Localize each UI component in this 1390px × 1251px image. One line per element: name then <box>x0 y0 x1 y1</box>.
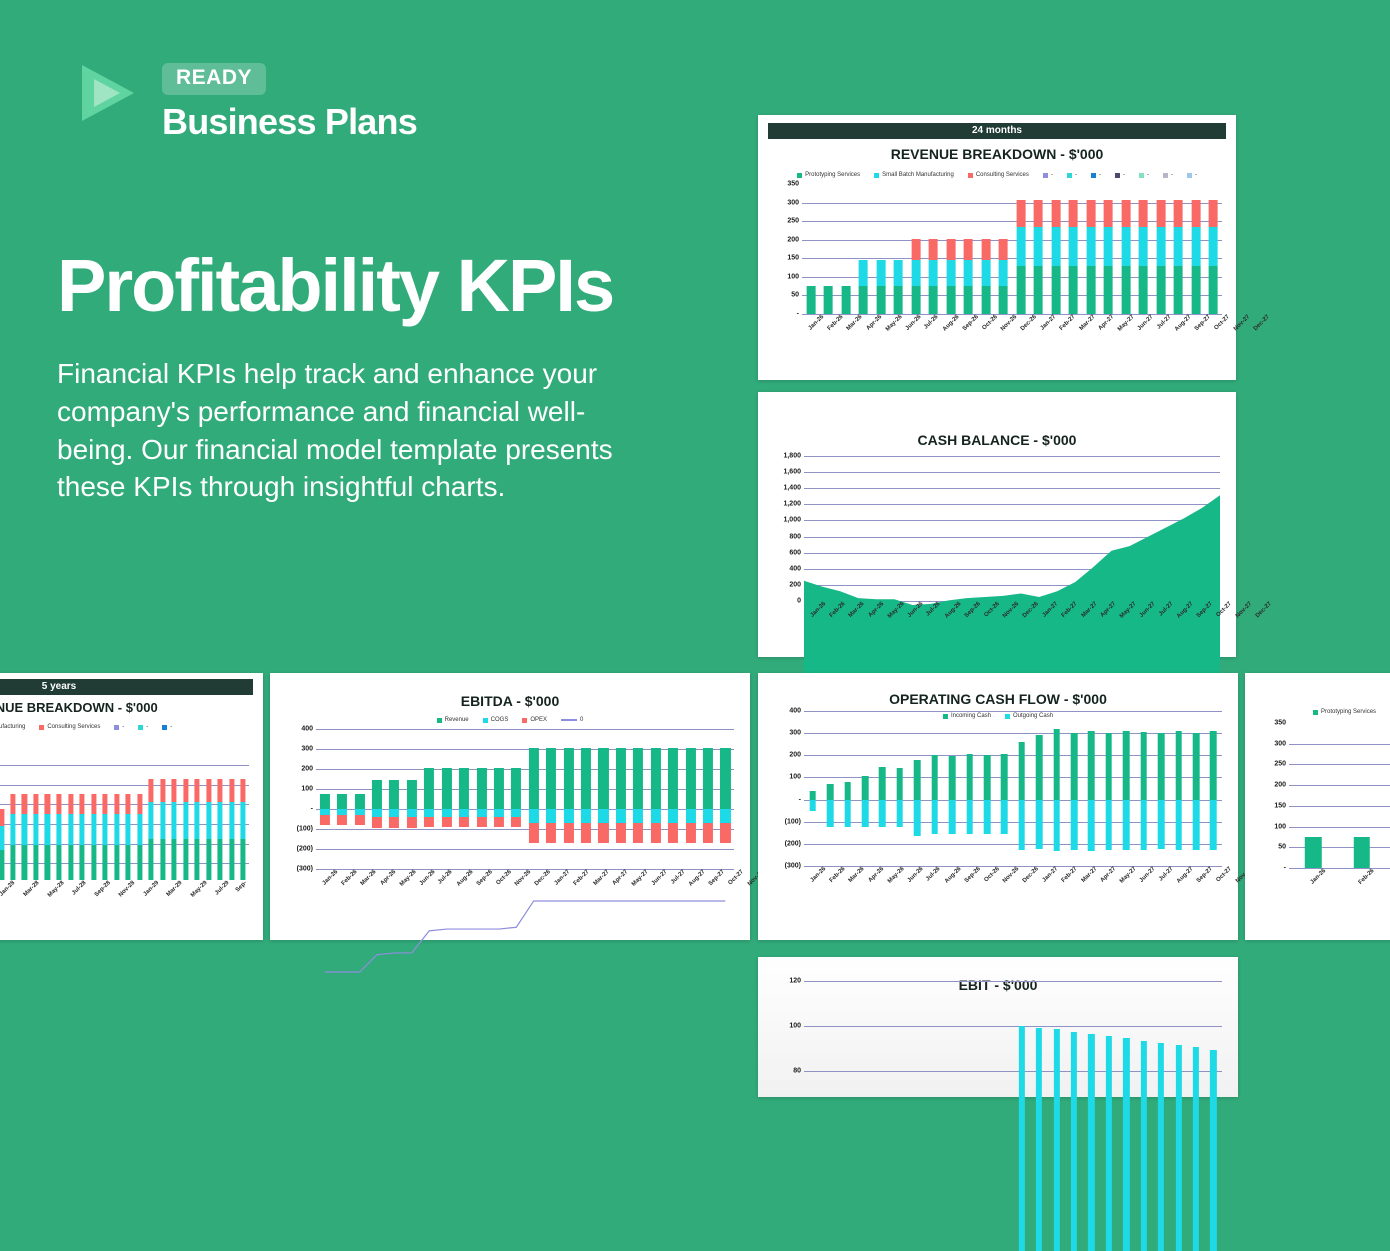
bar-column[interactable] <box>907 184 925 314</box>
x-axis-label: Jul-26 <box>923 314 940 331</box>
bar-column[interactable] <box>1100 981 1117 1071</box>
bar-column[interactable] <box>1030 981 1047 1071</box>
chart-card-cash-balance[interactable]: CASH BALANCE - $'000 1,8001,6001,4001,20… <box>758 392 1236 657</box>
x-axis-label: Dec-26 <box>1020 314 1038 332</box>
bar-segment <box>1193 800 1200 850</box>
bar-series <box>0 740 249 880</box>
chart-card-revenue-breakdown-24m[interactable]: 24 months REVENUE BREAKDOWN - $'000 Prot… <box>758 115 1236 380</box>
x-axis-tick: Jan-26 <box>804 866 823 872</box>
x-axis-label: Jan-27 <box>1040 314 1058 332</box>
x-axis-tick: Jan-29 <box>137 880 156 886</box>
y-axis-tick: 300 <box>789 730 801 737</box>
legend-item[interactable]: - <box>1187 172 1197 178</box>
x-axis-label: Jan-28 <box>0 880 17 898</box>
x-axis-label: May-26 <box>885 314 904 333</box>
x-axis-label: Jul-29 <box>214 880 231 897</box>
bar-segment <box>45 814 50 846</box>
bar-column[interactable] <box>1083 981 1100 1071</box>
bar-column[interactable] <box>88 740 100 880</box>
x-axis-label: Apr-27 <box>611 869 629 887</box>
bar-column[interactable] <box>30 740 42 880</box>
legend-label: COGS <box>491 717 509 723</box>
bar-column[interactable] <box>1170 981 1187 1071</box>
bar-segment <box>894 260 903 286</box>
chart-card-revenue-breakdown-partial[interactable]: Prototyping Services 3503002502001501005… <box>1245 673 1390 940</box>
x-axis-label: May-28 <box>47 880 66 899</box>
legend-item[interactable]: Consulting Services <box>968 172 1029 178</box>
bar-column[interactable] <box>1152 981 1169 1071</box>
legend-label: - <box>1075 172 1077 178</box>
x-axis: Jan-26Feb-26Mar-26Apr-26May-26Jun-26Jul-… <box>768 314 1226 352</box>
bar-segment <box>1086 200 1095 227</box>
bar-column[interactable] <box>157 740 169 880</box>
chart-plot-area: 35030025020015010050- <box>1255 723 1390 868</box>
bar-column[interactable] <box>802 184 820 314</box>
bar-column[interactable] <box>804 981 821 1071</box>
bar-column[interactable] <box>19 740 31 880</box>
bar-segment <box>999 286 1008 314</box>
bar-segment <box>195 839 200 880</box>
bar-segment <box>22 794 27 814</box>
bar-segment <box>91 794 96 814</box>
bar-column[interactable] <box>1118 981 1135 1071</box>
bar-column[interactable] <box>226 740 238 880</box>
legend-item[interactable]: 0 <box>561 717 583 723</box>
bar-segment <box>1175 731 1182 800</box>
x-axis-label: Nov-26 <box>1000 314 1018 332</box>
chart-plot-area <box>0 740 253 880</box>
legend-label: Revenue <box>445 717 469 723</box>
bar-segment <box>1069 266 1078 314</box>
legend-label: - <box>1171 172 1173 178</box>
x-axis-tick: Mar-28 <box>17 880 36 886</box>
bar-column[interactable] <box>134 740 146 880</box>
legend-item[interactable]: Prototyping Services <box>797 172 860 178</box>
bar-segment <box>1071 1032 1077 1251</box>
bar-segment <box>1053 800 1060 852</box>
bar-column[interactable] <box>99 740 111 880</box>
bar-segment <box>1210 731 1217 800</box>
x-axis-label: Jun-26 <box>905 314 923 332</box>
x-axis-label: Aug-26 <box>944 866 963 885</box>
bar-column[interactable] <box>1187 981 1204 1071</box>
x-axis-label: May-27 <box>1119 601 1138 620</box>
bar-column[interactable] <box>238 740 250 880</box>
bar-segment <box>911 260 920 286</box>
x-axis-label: Jul-27 <box>1156 314 1173 331</box>
bar-column[interactable] <box>1065 981 1082 1071</box>
x-axis-tick: Sep-28 <box>88 880 108 886</box>
bar-segment <box>1210 800 1217 850</box>
y-axis-tick: 1,800 <box>783 453 801 460</box>
bar-segment <box>183 779 188 802</box>
bar-column[interactable] <box>839 981 856 1071</box>
chart-card-ebitda[interactable]: EBITDA - $'000 RevenueCOGSOPEX0 40030020… <box>270 673 750 940</box>
bar-column[interactable] <box>1030 711 1047 866</box>
y-axis-tick: 200 <box>789 752 801 759</box>
bar-segment <box>1174 266 1183 314</box>
legend-swatch <box>114 725 119 730</box>
bar-segment <box>241 779 246 802</box>
bar-column[interactable] <box>1187 711 1204 866</box>
bar-column[interactable] <box>0 740 7 880</box>
x-axis-label: Jun-27 <box>1139 601 1157 619</box>
bar-segment <box>1305 837 1321 868</box>
bar-column[interactable] <box>856 711 873 866</box>
bar-column[interactable] <box>926 981 943 1071</box>
bar-segment <box>33 845 38 880</box>
bar-column[interactable] <box>1030 184 1048 314</box>
chart-plot-area: Incoming CashOutgoing Cash 400300200100-… <box>770 711 1226 866</box>
bar-segment <box>1139 200 1148 227</box>
bar-column[interactable] <box>909 711 926 866</box>
legend-label: - <box>1099 172 1101 178</box>
bar-segment <box>1174 227 1183 266</box>
bar-column[interactable] <box>960 184 978 314</box>
bar-column[interactable] <box>1013 981 1030 1071</box>
y-axis-tick: 1,200 <box>783 501 801 508</box>
legend-item[interactable]: Outgoing Cash <box>1005 713 1053 719</box>
bar-segment <box>1104 200 1113 227</box>
bar-column[interactable] <box>1205 711 1222 866</box>
bar-column[interactable] <box>1100 184 1118 314</box>
bar-column[interactable] <box>978 711 995 866</box>
bar-column[interactable] <box>996 981 1013 1071</box>
bar-column[interactable] <box>1012 184 1030 314</box>
chart-legend: RevenueCOGSOPEX0 <box>282 717 738 723</box>
bar-segment <box>879 767 886 800</box>
bar-series <box>804 981 1222 1071</box>
legend-item[interactable]: Prototyping Services <box>1313 709 1376 715</box>
bar-column[interactable] <box>891 711 908 866</box>
bar-column[interactable] <box>874 711 891 866</box>
y-axis-tick: 350 <box>787 181 799 188</box>
bar-column[interactable] <box>111 740 123 880</box>
bar-segment <box>964 239 973 261</box>
x-axis-label: Nov-27 <box>1235 601 1253 619</box>
bar-column[interactable] <box>977 184 995 314</box>
bar-segment <box>1140 732 1147 800</box>
x-axis-tick: Jan-26 <box>1289 868 1337 874</box>
bar-column[interactable] <box>1082 184 1100 314</box>
bar-segment <box>172 779 177 802</box>
y-axis: 35030025020015010050- <box>768 184 802 314</box>
legend-item[interactable]: - <box>1067 172 1077 178</box>
bar-segment <box>1123 800 1130 850</box>
bar-column[interactable] <box>874 981 891 1071</box>
legend-item[interactable]: Incoming Cash <box>943 713 991 719</box>
bar-segment <box>126 814 131 846</box>
bar-column[interactable] <box>978 981 995 1071</box>
bar-segment <box>1069 200 1078 227</box>
x-axis-label: May-29 <box>190 880 209 899</box>
x-axis-label: Apr-27 <box>1099 866 1117 884</box>
bar-segment <box>1071 800 1078 850</box>
legend-swatch <box>561 719 577 721</box>
x-axis-label: Sep-26 <box>962 314 980 332</box>
legend-item[interactable]: - <box>1043 172 1053 178</box>
bar-segment <box>172 839 177 880</box>
x-axis-label: Aug-26 <box>456 869 475 888</box>
bar-column[interactable] <box>943 981 960 1071</box>
bar-segment <box>1191 200 1200 227</box>
bar-segment <box>929 239 938 261</box>
bar-segment <box>102 794 107 814</box>
bar-segment <box>1016 227 1025 266</box>
bar-segment <box>1071 733 1078 799</box>
bar-segment <box>1156 266 1165 314</box>
x-axis-label: May-26 <box>399 869 418 888</box>
legend-label: Consulting Services <box>47 724 100 730</box>
legend-swatch <box>1187 173 1192 178</box>
legend-item[interactable]: Revenue <box>437 717 469 723</box>
chart-card-ebit[interactable]: EBIT - $'000 12010080 <box>758 957 1238 1097</box>
bar-column[interactable] <box>891 981 908 1071</box>
y-axis-tick: 100 <box>787 273 799 280</box>
bar-segment <box>10 794 15 814</box>
y-axis-tick: 1,400 <box>783 485 801 492</box>
bar-segment <box>931 800 938 834</box>
legend-label: - <box>1051 172 1053 178</box>
legend-item[interactable]: - <box>1091 172 1101 178</box>
y-axis-tick: 200 <box>1274 782 1286 789</box>
legend-item[interactable]: - <box>138 724 148 730</box>
bar-segment <box>0 850 4 880</box>
bar-column[interactable] <box>1047 184 1065 314</box>
x-axis: Jan-26Feb-26Mar-26Apr-26May-26Jun-26Jul-… <box>770 601 1224 641</box>
bar-column[interactable] <box>820 184 838 314</box>
bar-column[interactable] <box>1118 711 1135 866</box>
y-axis-tick: 120 <box>789 978 801 985</box>
bar-segment <box>137 845 142 880</box>
legend-label: - <box>1123 172 1125 178</box>
legend-item[interactable]: OPEX <box>522 717 547 723</box>
legend-item[interactable]: - <box>1163 172 1173 178</box>
bar-column[interactable] <box>1170 184 1188 314</box>
bar-column[interactable] <box>203 740 215 880</box>
x-axis-label: Mar-26 <box>848 866 866 884</box>
bar-segment <box>966 800 973 834</box>
x-axis-tick: Nov-28 <box>112 880 132 886</box>
y-axis-tick: 100 <box>301 786 313 793</box>
bar-column[interactable] <box>1100 711 1117 866</box>
bar-column[interactable] <box>995 184 1013 314</box>
bar-column[interactable] <box>1117 184 1135 314</box>
bar-segment <box>114 794 119 814</box>
y-axis-tick: 400 <box>789 565 801 572</box>
legend-item[interactable]: Small Batch Manufacturing <box>0 724 25 730</box>
x-axis-label: Jun-26 <box>907 601 925 619</box>
bar-column[interactable] <box>168 740 180 880</box>
x-axis-label: Apr-26 <box>379 869 397 887</box>
bar-column[interactable] <box>191 740 203 880</box>
bar-column[interactable] <box>1187 184 1205 314</box>
bar-column[interactable] <box>872 184 890 314</box>
bar-column[interactable] <box>961 981 978 1071</box>
brand-text: READY Business Plans <box>162 57 417 143</box>
chart-title: REVENUE BREAKDOWN - $'000 <box>768 146 1226 162</box>
bar-segment <box>1001 754 1008 800</box>
page-title: Profitability KPIs <box>57 243 613 328</box>
bar-column[interactable] <box>65 740 77 880</box>
bar-column[interactable] <box>1386 723 1390 868</box>
brand-logo-block: READY Business Plans <box>72 57 417 143</box>
x-axis-label: May-27 <box>1117 314 1136 333</box>
y-axis-tick: 300 <box>1274 740 1286 747</box>
x-axis-label: Jul-27 <box>670 869 687 886</box>
x-axis-label: Apr-26 <box>867 601 885 619</box>
bar-column[interactable] <box>1135 711 1152 866</box>
x-axis-label: Jan-27 <box>1042 601 1060 619</box>
bar-segment <box>1210 1050 1216 1251</box>
bar-segment <box>1353 837 1369 868</box>
legend-label: 0 <box>580 717 583 723</box>
bar-segment <box>844 800 851 827</box>
bar-column[interactable] <box>821 711 838 866</box>
legend-swatch <box>522 718 527 723</box>
bar-column[interactable] <box>1205 981 1222 1071</box>
bar-segment <box>806 286 815 314</box>
bar-segment <box>183 802 188 839</box>
bar-column[interactable] <box>1170 711 1187 866</box>
bar-segment <box>0 809 4 826</box>
bar-column[interactable] <box>1065 711 1082 866</box>
legend-item[interactable]: - <box>1139 172 1149 178</box>
bar-column[interactable] <box>837 184 855 314</box>
legend-item[interactable]: - <box>162 724 172 730</box>
bar-segment <box>1175 800 1182 850</box>
legend-item[interactable]: Small Batch Manufacturing <box>874 172 954 178</box>
bar-segment <box>0 826 4 851</box>
x-axis-label: Jan-29 <box>142 880 160 898</box>
x-axis-label: Jan-26 <box>810 601 828 619</box>
legend-item[interactable]: Consulting Services <box>39 724 100 730</box>
bar-column[interactable] <box>180 740 192 880</box>
bar-column[interactable] <box>1152 711 1169 866</box>
bar-column[interactable] <box>1205 184 1223 314</box>
bar-column[interactable] <box>961 711 978 866</box>
x-axis-label: Jun-27 <box>651 869 669 887</box>
bar-column[interactable] <box>145 740 157 880</box>
bar-column[interactable] <box>909 981 926 1071</box>
y-axis-tick: (100) <box>297 826 313 833</box>
bar-segment <box>1016 266 1025 314</box>
bar-segment <box>160 802 165 839</box>
bar-column[interactable] <box>804 711 821 866</box>
bar-segment <box>862 776 869 800</box>
legend-swatch <box>1115 173 1120 178</box>
bar-column[interactable] <box>1013 711 1030 866</box>
x-axis-label: Aug-27 <box>1176 866 1195 885</box>
x-axis-label: Mar-28 <box>23 880 41 898</box>
bar-column[interactable] <box>856 981 873 1071</box>
x-axis-label: Jul-28 <box>71 880 88 897</box>
x-axis: Jan-26Feb-26Mar-26Apr-26May- <box>1255 868 1390 904</box>
x-axis-label: Oct-27 <box>1213 314 1230 331</box>
bar-column[interactable] <box>996 711 1013 866</box>
bar-column[interactable] <box>1048 981 1065 1071</box>
bar-segment <box>1106 1036 1112 1251</box>
bar-column[interactable] <box>926 711 943 866</box>
bar-segment <box>1051 266 1060 314</box>
bar-column[interactable] <box>925 184 943 314</box>
bar-column[interactable] <box>42 740 54 880</box>
chart-plot-area: 1,8001,6001,4001,2001,0008006004002000 <box>770 456 1224 601</box>
bar-segment <box>1191 227 1200 266</box>
bar-segment <box>79 845 84 880</box>
bar-segment <box>946 286 955 314</box>
legend-item[interactable]: - <box>114 724 124 730</box>
bar-segment <box>841 286 850 314</box>
bar-column[interactable] <box>53 740 65 880</box>
bar-column[interactable] <box>943 711 960 866</box>
bar-column[interactable] <box>1065 184 1083 314</box>
bar-segment <box>195 802 200 839</box>
chart-card-operating-cash-flow[interactable]: OPERATING CASH FLOW - $'000 Incoming Cas… <box>758 673 1238 940</box>
bar-column[interactable] <box>122 740 134 880</box>
bar-segment <box>45 845 50 880</box>
legend-item[interactable]: - <box>1115 172 1125 178</box>
legend-swatch <box>138 725 143 730</box>
bar-column[interactable] <box>76 740 88 880</box>
bar-segment <box>894 286 903 314</box>
y-axis: 35030025020015010050- <box>1255 723 1289 868</box>
y-axis-tick: 600 <box>789 549 801 556</box>
bar-column[interactable] <box>1135 981 1152 1071</box>
legend-item[interactable]: COGS <box>483 717 509 723</box>
bar-column[interactable] <box>855 184 873 314</box>
x-axis-tick: Mar-29 <box>160 880 179 886</box>
bar-segment <box>859 260 868 286</box>
bar-column[interactable] <box>1289 723 1337 868</box>
x-axis-label: Mar-26 <box>360 869 378 887</box>
legend-label: - <box>1147 172 1149 178</box>
bar-column[interactable] <box>942 184 960 314</box>
bar-column[interactable] <box>1048 711 1065 866</box>
play-triangle-logo-icon <box>72 57 144 129</box>
x-axis-tick: Jan-28 <box>0 880 12 886</box>
bar-column[interactable] <box>1152 184 1170 314</box>
chart-plot-area: 400300200100-(100)(200)(300) <box>282 729 738 869</box>
legend-label: - <box>146 724 148 730</box>
ready-badge: READY <box>162 63 266 95</box>
x-axis-label: Jan-26 <box>810 866 828 884</box>
bar-segment <box>218 839 223 880</box>
chart-card-revenue-breakdown-5y[interactable]: 5 years REVENUE BREAKDOWN - $'000 Small … <box>0 673 263 940</box>
bar-column[interactable] <box>1337 723 1385 868</box>
bar-column[interactable] <box>839 711 856 866</box>
bar-segment <box>1209 200 1218 227</box>
x-axis-label: Aug-26 <box>944 601 963 620</box>
x-axis-label: Feb-26 <box>1358 868 1376 886</box>
x-axis-tick: Feb-26 <box>1337 868 1385 874</box>
bar-segment <box>102 814 107 846</box>
bar-column[interactable] <box>7 740 19 880</box>
bar-column[interactable] <box>890 184 908 314</box>
x-axis-label: Nov-26 <box>1002 866 1020 884</box>
bar-column[interactable] <box>1083 711 1100 866</box>
x-axis-label: Dec-27 <box>1252 314 1270 332</box>
bar-segment <box>1053 1029 1059 1251</box>
x-axis-label: Jul-26 <box>437 869 454 886</box>
bar-column[interactable] <box>821 981 838 1071</box>
bar-segment <box>1193 1047 1199 1251</box>
bar-segment <box>229 779 234 802</box>
x-axis-label: Dec-26 <box>1022 866 1040 884</box>
bar-column[interactable] <box>214 740 226 880</box>
bar-segment <box>1193 733 1200 799</box>
bar-column[interactable] <box>1135 184 1153 314</box>
